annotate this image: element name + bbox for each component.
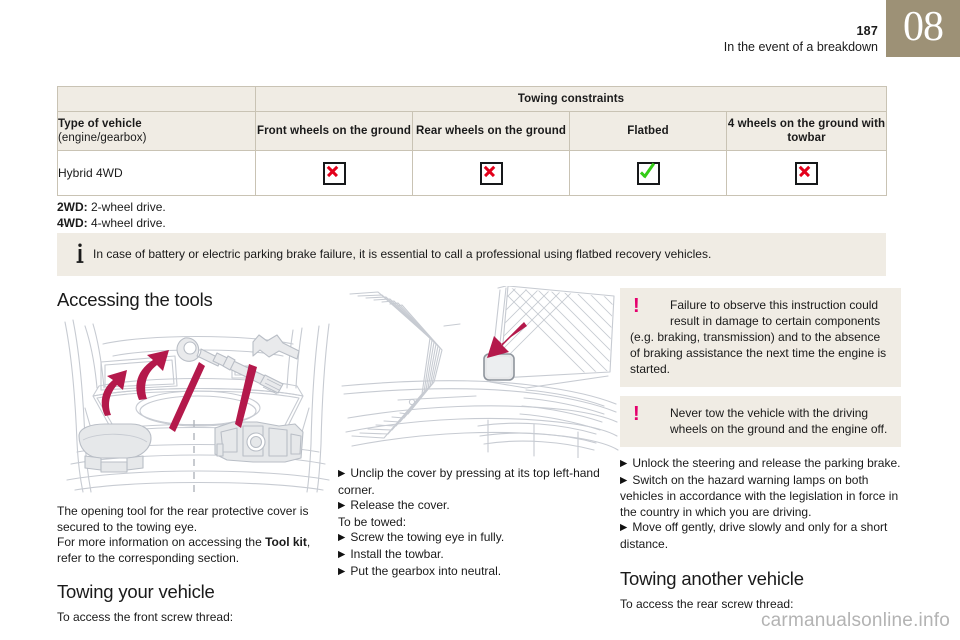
legend-line-4wd: 4WD: 4-wheel drive. <box>57 216 166 232</box>
table-cell-vehicle-type: Hybrid 4WD <box>58 151 256 196</box>
legend-line-2wd: 2WD: 2-wheel drive. <box>57 200 166 216</box>
left-paragraph-3: To access the front screw thread: <box>57 610 338 626</box>
middle-step-5: Put the gearbox into neutral. <box>350 564 501 578</box>
middle-lead-in: To be towed: <box>338 515 619 531</box>
table-cell-rear-wheels <box>413 151 570 196</box>
arrow-bullet-icon: ▶ <box>338 549 345 560</box>
arrow-bullet-icon: ▶ <box>620 475 627 486</box>
heading-accessing-the-tools: Accessing the tools <box>57 288 338 312</box>
right-column: ! Failure to observe this instruction co… <box>620 288 901 612</box>
heading-towing-your-vehicle: Towing your vehicle <box>57 580 338 604</box>
legend-key-2wd: 2WD: <box>57 200 88 214</box>
cross-icon <box>480 162 503 185</box>
legend-value-4wd: 4-wheel drive. <box>88 216 166 230</box>
warning-box-2: ! Never tow the vehicle with the driving… <box>620 396 901 447</box>
table-legend: 2WD: 2-wheel drive. 4WD: 4-wheel drive. <box>57 200 166 231</box>
section-title: In the event of a breakdown <box>378 39 878 55</box>
info-i-glyph <box>74 242 86 264</box>
list-item: ▶Switch on the hazard warning lamps on b… <box>620 473 901 521</box>
list-item: ▶Put the gearbox into neutral. <box>338 564 619 581</box>
list-item: ▶Move off gently, drive slowly and only … <box>620 520 901 552</box>
warning-1-line-1: Failure to observe this instruction coul… <box>670 298 878 312</box>
table-header-flatbed: Flatbed <box>570 112 727 151</box>
left-column: Accessing the tools The opening tool for… <box>57 288 338 626</box>
table-header-vehicle-title: Type of vehicle <box>58 117 255 131</box>
table-corner-cell <box>58 87 256 112</box>
table-header-vehicle: Type of vehicle (engine/gearbox) <box>58 112 256 151</box>
right-step-3: Move off gently, drive slowly and only f… <box>620 520 887 551</box>
info-box-text: In case of battery or electric parking b… <box>93 246 874 262</box>
table-cell-flatbed <box>570 151 727 196</box>
left-paragraph-1: The opening tool for the rear protective… <box>57 504 338 535</box>
left-paragraph-2-pre: For more information on accessing the <box>57 535 265 549</box>
chapter-number: 08 <box>886 0 960 56</box>
cross-icon <box>323 162 346 185</box>
table-row-group-header: Towing constraints <box>58 87 887 112</box>
table-cell-front-wheels <box>256 151 413 196</box>
warning-exclamation-icon: ! <box>633 404 640 424</box>
table-header-four-wheels-towbar: 4 wheels on the ground with towbar <box>727 112 887 151</box>
warning-box-1: ! Failure to observe this instruction co… <box>620 288 901 387</box>
legend-value-2wd: 2-wheel drive. <box>88 200 166 214</box>
left-paragraph-2: For more information on accessing the To… <box>57 535 338 566</box>
list-item: ▶Install the towbar. <box>338 547 619 564</box>
list-item: ▶Unlock the steering and release the par… <box>620 456 901 473</box>
page-number: 187 <box>378 25 878 38</box>
right-step-1: Unlock the steering and release the park… <box>632 456 900 470</box>
footer-watermark: carmanualsonline.info <box>761 610 950 632</box>
table-header-vehicle-sub: (engine/gearbox) <box>58 131 255 145</box>
warning-2-line-2: wheels on the ground and the engine off. <box>630 421 891 437</box>
arrow-bullet-icon: ▶ <box>338 468 345 479</box>
middle-steps-list: ▶Unclip the cover by pressing at its top… <box>338 466 619 580</box>
arrow-bullet-icon: ▶ <box>620 458 627 469</box>
table-row-column-headers: Type of vehicle (engine/gearbox) Front w… <box>58 112 887 151</box>
warning-1-line-2: result in damage to certain components <box>630 313 891 329</box>
cross-icon <box>795 162 818 185</box>
legend-key-4wd: 4WD: <box>57 216 88 230</box>
right-step-2: Switch on the hazard warning lamps on bo… <box>620 473 898 519</box>
warning-1-rest: (e.g. braking, transmission) and to the … <box>630 329 891 377</box>
list-item: ▶Release the cover. <box>338 498 619 515</box>
page-header: 187 In the event of a breakdown 08 <box>0 0 960 60</box>
middle-column: ▶Unclip the cover by pressing at its top… <box>338 288 619 580</box>
list-item: ▶Screw the towing eye in fully. <box>338 530 619 547</box>
info-i-icon <box>73 242 87 268</box>
right-steps-list: ▶Unlock the steering and release the par… <box>620 456 901 553</box>
chapter-block: 08 <box>886 0 960 57</box>
warning-exclamation-icon: ! <box>633 296 640 316</box>
arrow-bullet-icon: ▶ <box>338 500 345 511</box>
arrow-bullet-icon: ▶ <box>338 532 345 543</box>
list-item: ▶Unclip the cover by pressing at its top… <box>338 466 619 498</box>
warning-2-line-1: Never tow the vehicle with the driving <box>670 406 868 420</box>
tool-kit-reference[interactable]: Tool kit <box>265 535 307 549</box>
arrow-bullet-icon: ▶ <box>620 522 627 533</box>
arrow-bullet-icon: ▶ <box>338 566 345 577</box>
middle-step-3: Screw the towing eye in fully. <box>350 530 504 544</box>
warning-box-2-text: Never tow the vehicle with the driving w… <box>630 405 891 437</box>
warning-box-1-text: Failure to observe this instruction coul… <box>630 297 891 377</box>
table-header-front-wheels: Front wheels on the ground <box>256 112 413 151</box>
towing-constraints-table: Towing constraints Type of vehicle (engi… <box>57 86 886 196</box>
table-cell-four-wheels-towbar <box>727 151 887 196</box>
middle-step-1: Unclip the cover by pressing at its top … <box>338 466 600 497</box>
middle-step-2: Release the cover. <box>350 498 449 512</box>
check-icon <box>637 162 660 185</box>
info-box: In case of battery or electric parking b… <box>57 233 886 276</box>
table-group-header: Towing constraints <box>256 87 887 112</box>
table-row: Hybrid 4WD <box>58 151 887 196</box>
middle-step-4: Install the towbar. <box>350 547 443 561</box>
table-header-rear-wheels: Rear wheels on the ground <box>413 112 570 151</box>
header-meta: 187 In the event of a breakdown <box>378 25 878 55</box>
heading-towing-another-vehicle: Towing another vehicle <box>620 567 901 591</box>
